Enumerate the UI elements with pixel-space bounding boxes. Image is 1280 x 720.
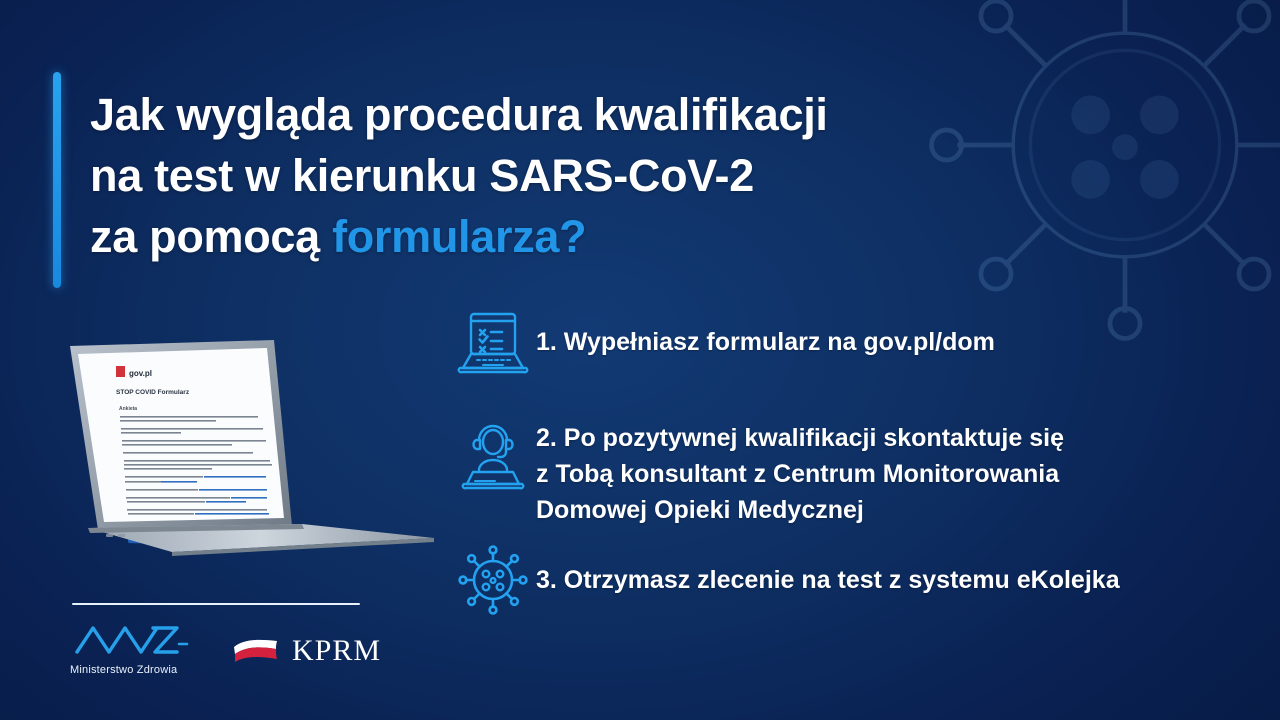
list-item-step-2: 2. Po pozytywnej kwalifikacji skontaktuj… xyxy=(450,416,1250,528)
kprm-label: KPRM xyxy=(292,634,381,668)
ministry-of-health-logo: Ministerstwo Zdrowia xyxy=(68,622,196,676)
title-accent-bar xyxy=(53,72,61,288)
slide-root: Jak wygląda procedura kwalifikacji na te… xyxy=(0,0,1280,720)
title-line-3-plain: za pomocą xyxy=(90,211,332,262)
list-item-step-1: 1. Wypełniasz formularz na gov.pl/dom xyxy=(450,308,1250,394)
laptop-checklist-icon xyxy=(450,308,536,394)
svg-text:Ankieta: Ankieta xyxy=(119,406,137,412)
steps-list: 1. Wypełniasz formularz na gov.pl/dom 2.… xyxy=(450,308,1250,650)
step-2-text: 2. Po pozytywnej kwalifikacji skontaktuj… xyxy=(536,416,1064,528)
virus-icon xyxy=(450,542,536,628)
svg-text:gov.pl: gov.pl xyxy=(129,369,152,378)
page-title: Jak wygląda procedura kwalifikacji na te… xyxy=(90,84,920,267)
headset-consultant-icon xyxy=(450,416,536,502)
step-3-text: 3. Otrzymasz zlecenie na test z systemu … xyxy=(536,542,1120,598)
svg-text:STOP COVID Formularz: STOP COVID Formularz xyxy=(116,389,190,396)
title-line-2: na test w kierunku SARS-CoV-2 xyxy=(90,150,754,201)
coronavirus-watermark-icon xyxy=(910,0,1280,360)
polish-flag-icon xyxy=(232,638,280,664)
title-line-1: Jak wygląda procedura kwalifikacji xyxy=(90,89,828,140)
kprm-logo: KPRM xyxy=(232,622,381,668)
footer-logos: Ministerstwo Zdrowia KPRM xyxy=(68,622,381,676)
footer-divider xyxy=(72,603,360,605)
step-1-text: 1. Wypełniasz formularz na gov.pl/dom xyxy=(536,308,995,360)
list-item-step-3: 3. Otrzymasz zlecenie na test z systemu … xyxy=(450,542,1250,628)
title-line-3-accent: formularza? xyxy=(332,211,586,262)
laptop-illustration: gov.pl STOP COVID Formularz Ankieta xyxy=(62,330,442,560)
ministry-caption: Ministerstwo Zdrowia xyxy=(68,664,196,676)
